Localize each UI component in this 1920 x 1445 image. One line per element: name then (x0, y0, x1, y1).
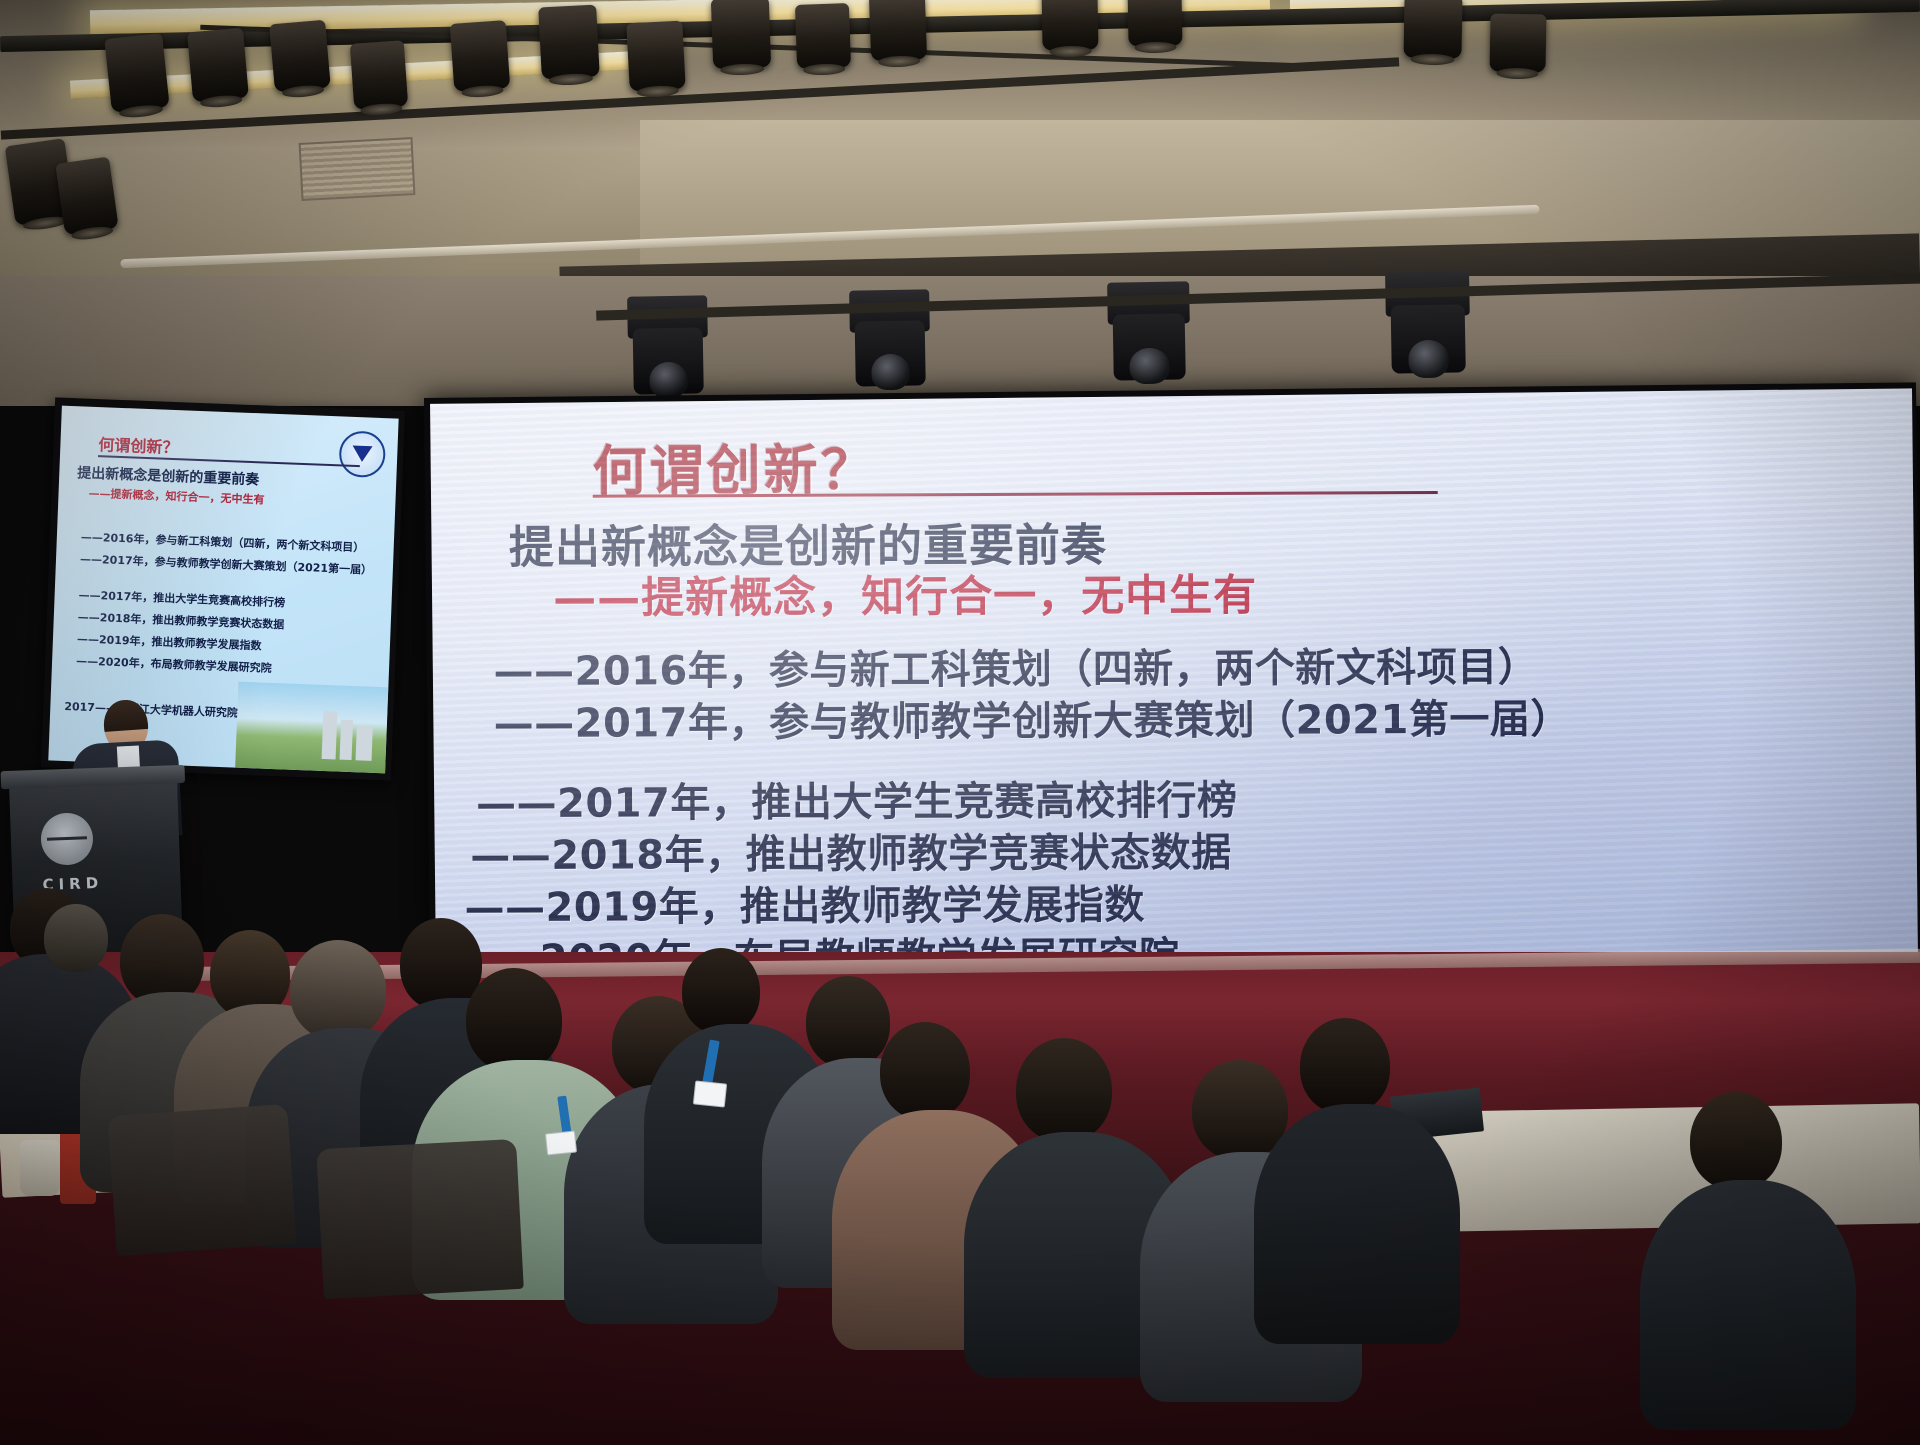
monitor-footer-line: 2017——，浙江大学机器人研究院（设在余姚） (64, 698, 304, 723)
monitor-bullet: ——2020年，布局教师教学发展研究院 (76, 652, 272, 675)
par-can-light-icon (269, 20, 331, 93)
par-can-light-icon (55, 157, 118, 236)
monitor-slide-title: 何谓创新？ (98, 431, 179, 458)
monitor-lead-line: 提出新概念是创新的重要前奏 (77, 462, 260, 489)
par-can-light-icon (711, 0, 771, 69)
confidence-monitor: 何谓创新？ 提出新概念是创新的重要前奏 ——提新概念，知行合一，无中生有 ——2… (41, 397, 405, 780)
monitor-bullet: ——2019年，推出教师教学发展指数 (77, 630, 262, 653)
name-badge (693, 1080, 727, 1107)
slide-bullet: ——2017年，参与教师教学创新大赛策划（2021第一届） (494, 686, 1571, 749)
par-can-light-icon (1403, 0, 1462, 59)
par-can-light-icon (1041, 0, 1098, 50)
confidence-monitor-slide: 何谓创新？ 提出新概念是创新的重要前奏 ——提新概念，知行合一，无中生有 ——2… (48, 406, 398, 774)
monitor-lead-sub: ——提新概念，知行合一，无中生有 (88, 485, 264, 508)
par-can-light-icon (538, 5, 600, 80)
par-can-light-icon (350, 40, 408, 110)
par-can-light-icon (1127, 0, 1182, 46)
par-can-light-icon (626, 21, 685, 92)
university-emblem-icon (338, 430, 386, 478)
monitor-bullet: ——2017年，推出大学生竞赛高校排行榜 (78, 586, 285, 610)
conference-hall-photo: 何谓创新？ 提出新概念是创新的重要前奏 ——提新概念，知行合一，无中生有 ——2… (0, 0, 1920, 1445)
monitor-bullet: ——2017年，参与教师教学创新大赛策划（2021第一届） (80, 550, 373, 577)
par-can-light-icon (450, 20, 511, 92)
name-badge (545, 1130, 577, 1155)
monitor-bullet: ——2016年，参与新工科策划（四新，两个新文科项目） (81, 529, 365, 556)
chair-back (107, 1104, 296, 1256)
lectern-top (1, 765, 186, 789)
par-can-light-icon (104, 33, 169, 113)
monitor-title-rule (98, 455, 360, 467)
par-can-light-icon (187, 28, 249, 103)
hvac-vent-icon (299, 137, 416, 201)
podium-emblem-icon (40, 812, 94, 866)
chair-back (316, 1139, 524, 1299)
monitor-bullet: ——2018年，推出教师教学竞赛状态数据 (78, 608, 285, 632)
par-can-light-icon (795, 3, 851, 69)
tea-cup (20, 1140, 60, 1196)
slide-lead-sub: ——提新概念，知行合一，无中生有 (553, 561, 1257, 626)
par-can-light-icon (1489, 14, 1546, 73)
par-can-light-icon (869, 0, 927, 61)
slide-decorative-photo (235, 682, 388, 774)
